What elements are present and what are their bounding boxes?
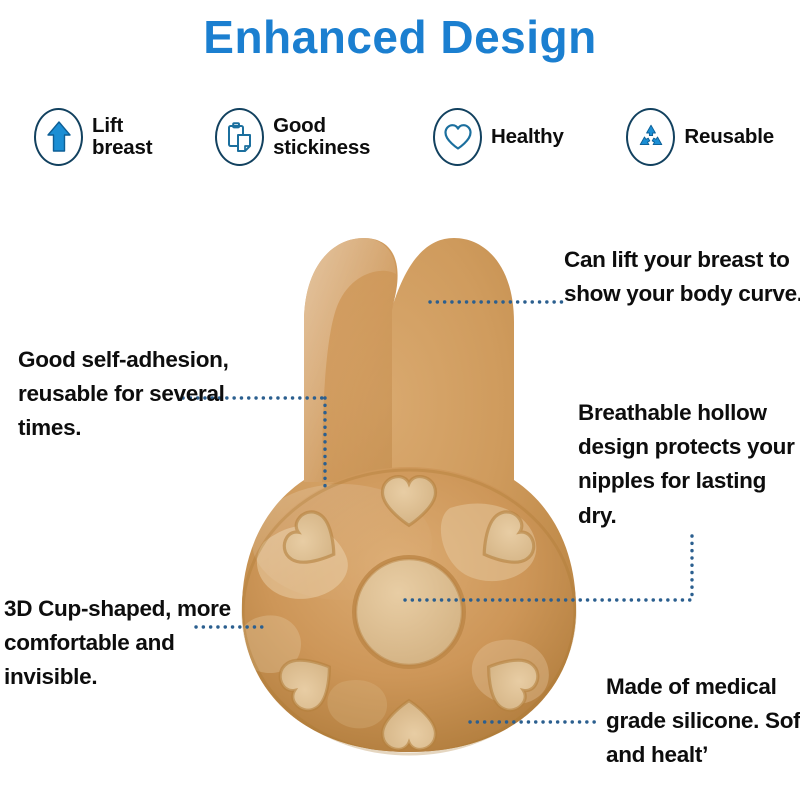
clipboard-adhesive-icon — [215, 108, 264, 166]
feature-label: Healthy — [491, 126, 564, 148]
center-nipple-cutout — [352, 555, 466, 669]
feature-badge-row: Lift breast Good stickiness Healthy — [34, 104, 774, 170]
callout-3d-cup-shaped: 3D Cup-shaped, more comfortable and invi… — [4, 592, 264, 695]
callout-self-adhesion: Good self-adhesion, reusable for several… — [18, 343, 288, 446]
callout-breathable-design: Breathable hollow design protects your n… — [578, 396, 800, 533]
up-arrow-icon — [34, 108, 83, 166]
callout-lift-breast: Can lift your breast to show your body c… — [564, 243, 800, 311]
product-infographic: Enhanced Design Lift breast Good stickin… — [0, 0, 800, 800]
feature-label: Lift breast — [92, 115, 152, 158]
feature-label: Reusable — [684, 126, 774, 148]
feature-lift-breast: Lift breast — [34, 108, 152, 166]
recycle-icon — [626, 108, 675, 166]
feature-reusable: Reusable — [626, 108, 774, 166]
feature-label: Good stickiness — [273, 115, 370, 158]
heart-icon — [433, 108, 482, 166]
feature-healthy: Healthy — [433, 108, 564, 166]
feature-good-stickiness: Good stickiness — [215, 108, 370, 166]
callout-medical-silicone: Made of medical grade silicone. Soft and… — [606, 670, 800, 773]
page-title: Enhanced Design — [0, 14, 800, 60]
